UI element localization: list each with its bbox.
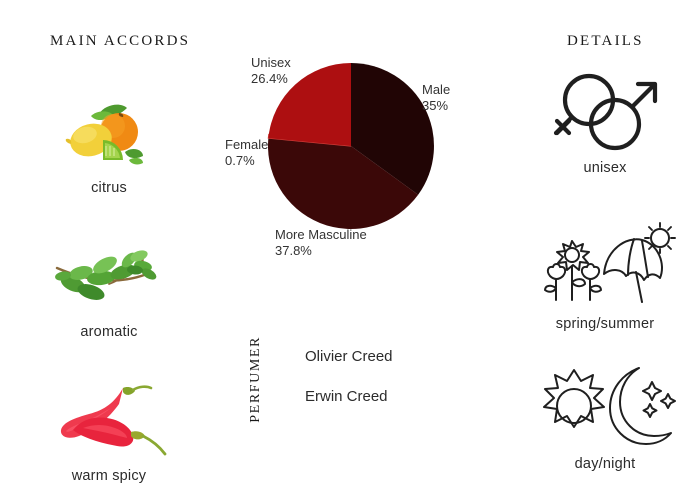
detail-label: unisex: [515, 160, 695, 176]
sun-moon-icon: [530, 362, 680, 454]
pie-label-male: Male 35%: [422, 82, 450, 115]
pie-label-unisex-name: Unisex: [251, 55, 291, 70]
citrus-fruit-icon: [39, 96, 179, 176]
details-heading: DETAILS: [567, 33, 644, 50]
perfumer-section: PERFUMER Olivier Creed Erwin Creed: [240, 330, 470, 425]
pie-label-unisex-value: 26.4%: [251, 71, 291, 87]
pie-label-unisex: Unisex 26.4%: [251, 55, 291, 88]
flowers-umbrella-sun-icon: [530, 222, 680, 314]
detail-label: spring/summer: [515, 316, 695, 332]
accord-label: warm spicy: [24, 468, 194, 484]
pie-label-male-value: 35%: [422, 98, 450, 114]
pie-label-more-masculine: More Masculine 37.8%: [275, 227, 367, 260]
pie-label-more-masculine-name: More Masculine: [275, 227, 367, 242]
accord-label: aromatic: [24, 324, 194, 340]
perfumer-section-label: PERFUMER: [248, 336, 264, 423]
herb-sprig-icon: [39, 240, 179, 320]
perfumer-name[interactable]: Olivier Creed: [305, 348, 393, 365]
accord-item-aromatic[interactable]: aromatic: [24, 240, 194, 340]
infographic-canvas: MAIN ACCORDS DETAILS: [0, 0, 700, 500]
detail-label: day/night: [515, 456, 695, 472]
pie-label-female-value: 0.7%: [225, 153, 268, 169]
chili-pepper-icon: [39, 384, 179, 464]
detail-item-unisex[interactable]: unisex: [515, 66, 695, 176]
detail-item-spring-summer[interactable]: spring/summer: [515, 222, 695, 332]
detail-item-day-night[interactable]: day/night: [515, 362, 695, 472]
accord-item-warm-spicy[interactable]: warm spicy: [24, 384, 194, 484]
pie-label-female-name: Female: [225, 137, 268, 152]
gender-symbols-icon: [530, 66, 680, 158]
main-accords-heading: MAIN ACCORDS: [50, 33, 190, 50]
pie-label-female: Female 0.7%: [225, 137, 268, 170]
gender-distribution-pie-chart: Unisex 26.4% Male 35% Female 0.7% More M…: [225, 45, 475, 280]
pie-label-more-masculine-value: 37.8%: [275, 243, 367, 259]
pie-label-male-name: Male: [422, 82, 450, 97]
accord-label: citrus: [24, 180, 194, 196]
accord-item-citrus[interactable]: citrus: [24, 96, 194, 196]
perfumer-name[interactable]: Erwin Creed: [305, 388, 388, 405]
